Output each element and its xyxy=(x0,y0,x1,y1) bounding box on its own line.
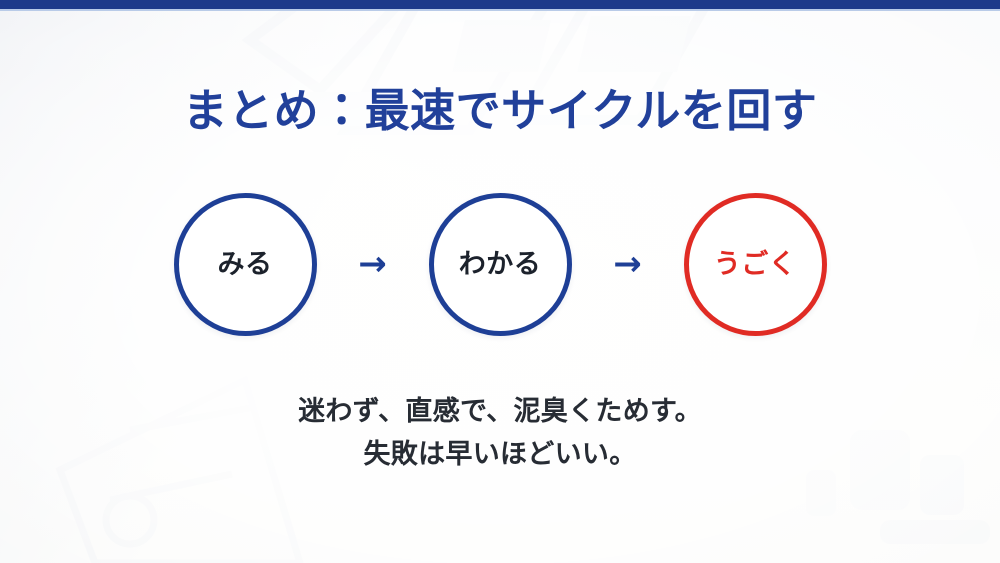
arrow-right-icon: → xyxy=(317,247,429,281)
cycle-node-miru[interactable]: みる xyxy=(174,193,317,336)
cycle-node-label: みる xyxy=(218,251,273,278)
cycle-diagram: みる → わかる → うごく xyxy=(0,191,1000,337)
cycle-node-wakaru[interactable]: わかる xyxy=(429,193,572,336)
arrow-right-icon: → xyxy=(572,247,684,281)
cycle-node-label: わかる xyxy=(459,251,542,278)
slide-canvas: まとめ：最速でサイクルを回す みる → わかる → うごく 迷わず、直感で、泥臭… xyxy=(0,0,1000,563)
caption-line-1: 迷わず、直感で、泥臭くためす。 xyxy=(0,390,1000,433)
cycle-node-label: うごく xyxy=(714,251,797,278)
page-title: まとめ：最速でサイクルを回す xyxy=(0,86,1000,136)
slide-caption: 迷わず、直感で、泥臭くためす。 失敗は早いほどいい。 xyxy=(0,390,1000,475)
caption-line-2: 失敗は早いほどいい。 xyxy=(0,433,1000,476)
cycle-node-ugoku[interactable]: うごく xyxy=(684,193,827,336)
slide-content: まとめ：最速でサイクルを回す みる → わかる → うごく 迷わず、直感で、泥臭… xyxy=(0,0,1000,563)
